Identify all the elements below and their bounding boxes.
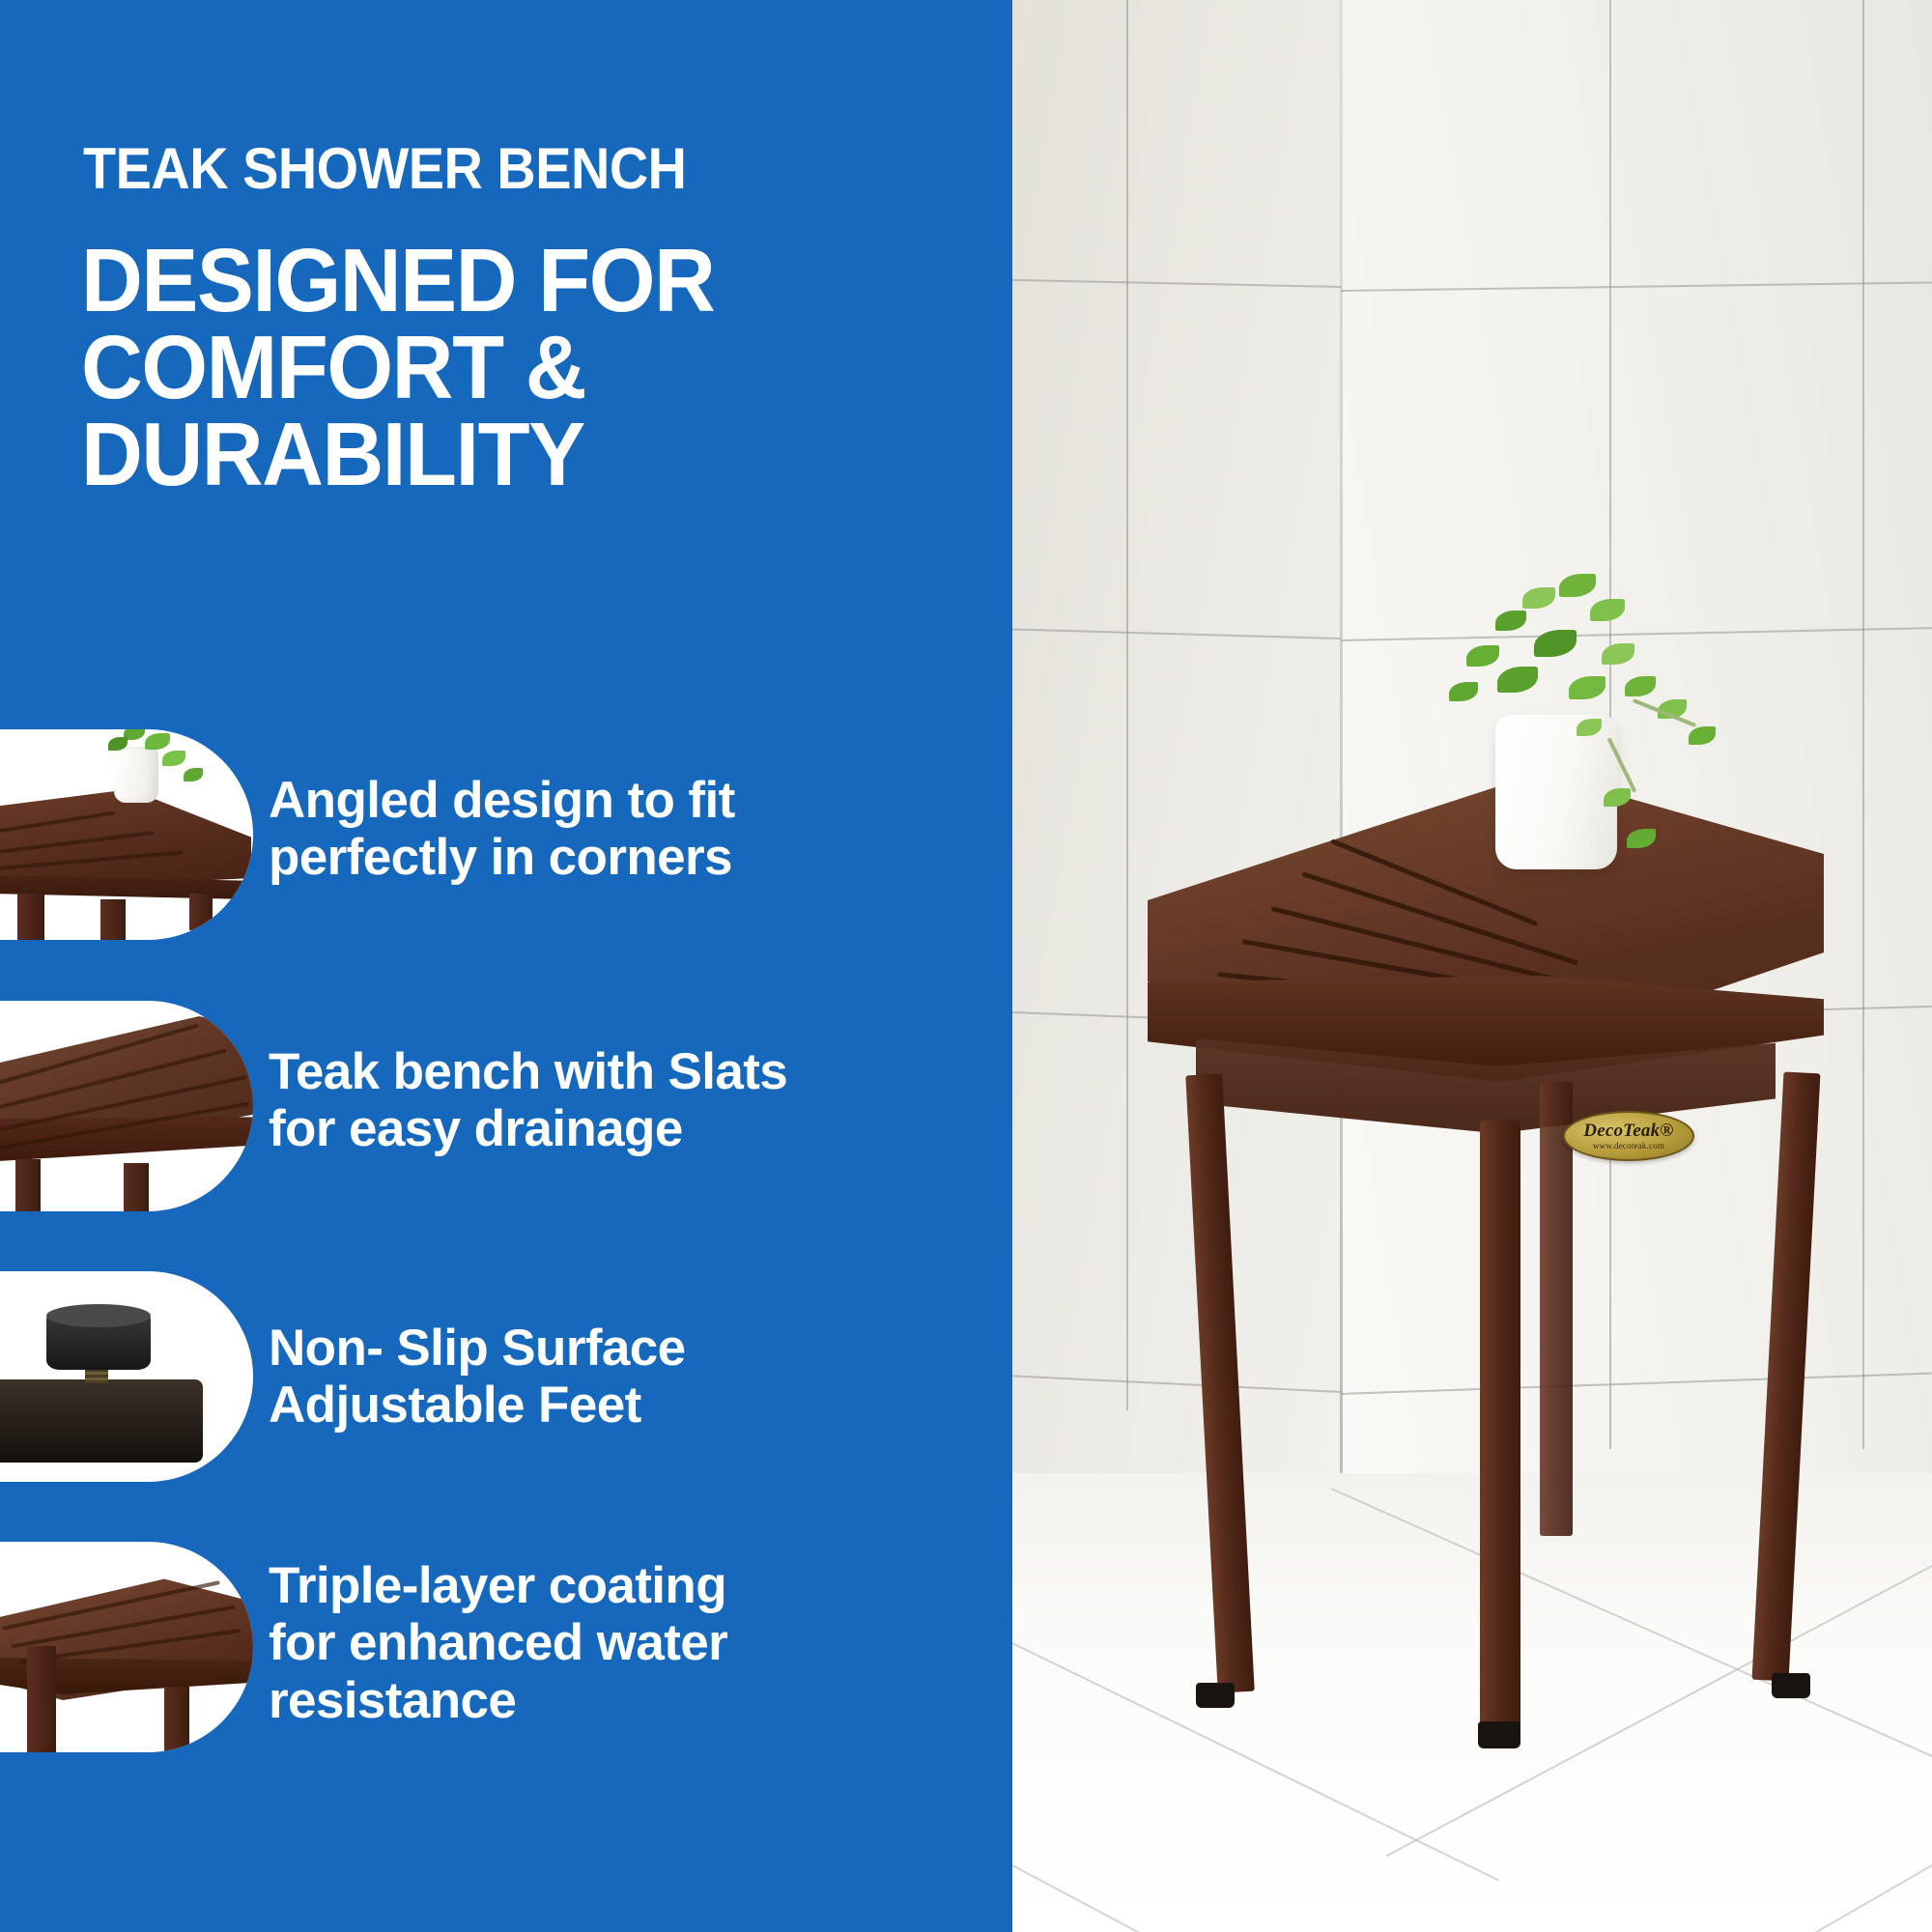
- decoteak-brand-badge: DecoTeak® www.decoteak.com: [1563, 1111, 1694, 1161]
- bench-leg-back: [1540, 1082, 1573, 1536]
- page-title: DESIGNED FOR COMFORT & DURABILITY: [81, 237, 889, 498]
- teak-corner-bench: DecoTeak® www.decoteak.com: [1012, 0, 1932, 1932]
- feature-label-triple-layer-coating: Triple-layer coating for enhanced water …: [269, 1557, 790, 1729]
- adjustable-foot-left: [1196, 1683, 1235, 1708]
- feature-thumbnail-bench-corner-with-plant: [0, 729, 253, 940]
- headline-line-1: DESIGNED FOR: [81, 237, 889, 324]
- feature-line: Non- Slip Surface: [269, 1320, 790, 1377]
- feature-thumbnail-bench-slats-closeup: [0, 1001, 253, 1211]
- adjustable-foot-center: [1478, 1721, 1520, 1748]
- eyebrow-title: TEAK SHOWER BENCH: [83, 140, 892, 198]
- bench-leg-left: [1185, 1073, 1254, 1692]
- ceramic-vase: [1495, 715, 1617, 869]
- feature-label-slatted-drainage: Teak bench with Slats for easy drainage: [269, 1043, 790, 1158]
- feature-thumbnail-coated-bench-edge: [0, 1542, 253, 1752]
- headline-line-2: COMFORT &: [81, 324, 889, 411]
- feature-line: Teak bench with Slats: [269, 1043, 790, 1100]
- headline-line-3: DURABILITY: [81, 411, 889, 497]
- feature-line: resistance: [269, 1672, 790, 1729]
- badge-brand-name: DecoTeak®: [1583, 1122, 1673, 1140]
- feature-line: Adjustable Feet: [269, 1377, 790, 1434]
- infographic-canvas: TEAK SHOWER BENCH DESIGNED FOR COMFORT &…: [0, 0, 1932, 1932]
- product-photo: DecoTeak® www.decoteak.com: [1012, 0, 1932, 1932]
- bench-leg-right: [1752, 1071, 1821, 1681]
- feature-label-non-slip-adjustable-feet: Non- Slip Surface Adjustable Feet: [269, 1320, 790, 1435]
- feature-line: Triple-layer coating: [269, 1557, 790, 1614]
- feature-line: perfectly in corners: [269, 829, 790, 886]
- feature-line: Angled design to fit: [269, 772, 790, 829]
- feature-line: for easy drainage: [269, 1100, 790, 1157]
- feature-thumbnail-black-adjustable-foot: [0, 1271, 253, 1482]
- adjustable-foot-right: [1772, 1673, 1810, 1698]
- feature-line: for enhanced water: [269, 1614, 790, 1671]
- feature-label-angled-corner-design: Angled design to fit perfectly in corner…: [269, 772, 790, 887]
- badge-url: www.decoteak.com: [1593, 1142, 1664, 1151]
- bench-leg-center: [1480, 1121, 1520, 1729]
